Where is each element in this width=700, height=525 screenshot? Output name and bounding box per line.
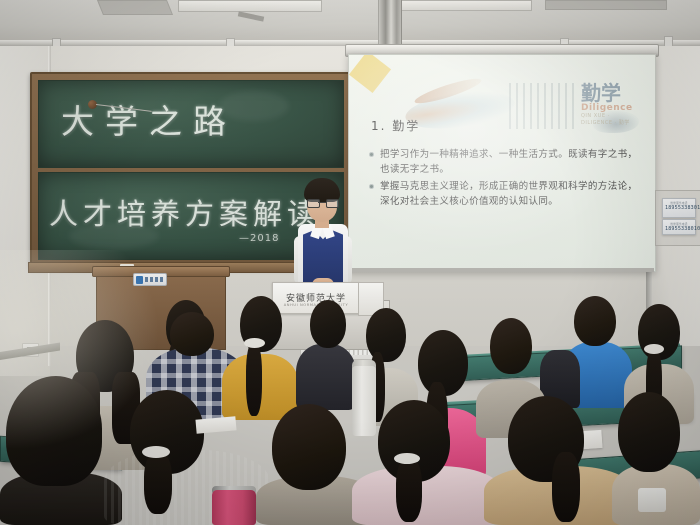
student-head [310,300,346,348]
student-head [6,376,102,486]
chalkboard-upper-panel: 大学之路 [38,80,344,168]
student-head [618,392,680,472]
projector-screen-mount [378,0,402,48]
wall-sign-number: 18955338010 [665,226,693,232]
pink-thermos-bottle[interactable] [212,490,256,525]
asset-tag-barcode [145,277,164,282]
student-ponytail [396,458,422,522]
student-foreground-rose-coat [352,400,502,525]
calligraphy-char: 勤学 [581,81,621,105]
student-head [574,296,616,346]
slide-bullet-2-line1: 掌握马克思主义理论，形成正确的世界观和科学的方法论， [380,181,637,192]
slide-heading: 1. 勤学 [371,117,420,134]
hair-tie [644,344,664,354]
hair-tie [244,338,265,348]
student-head [490,318,532,374]
slide-bullet-2: 掌握马克思主义理论，形成正确的世界观和科学的方法论， 深化对社会主义核心价值观的… [369,179,641,209]
equipment-asset-tag [133,273,167,286]
ceiling-light-fixture [390,0,532,11]
ceiling-light-fixture [178,0,322,12]
artwork-english-subtitle: QIN XUE · DILIGENCE · 勤学 [581,113,643,126]
student-head [272,404,346,490]
slide-bullet-1-line1: 把学习作为一种精神追求、一种生活方式。既读有字之书， [380,149,637,160]
glasses-bridge [318,202,326,203]
student-ponytail [144,452,172,514]
projection-screen: 勤学 Diligence QIN XUE · DILIGENCE · 勤学 1.… [348,54,656,272]
projector-screen-weight-bar [348,268,654,272]
classroom-photo: 大学之路 人才培养方案解读 —2018 勤学 Diligence QIN XUE… [0,0,700,525]
hair-tie [142,446,170,458]
slide-bullet-1: 把学习作为一种精神追求、一种生活方式。既读有字之书， 也读无字之书。 [369,147,641,177]
speaker-glasses-icon [307,199,337,206]
slide-bullet-2-line2: 深化对社会主义核心价值观的认知认同。 [369,194,641,209]
blackboard-subtitle-text: 人才培养方案解读 [49,191,321,233]
wall-sign-service-phone-2: 维修服务电话 18955338010 [662,219,696,235]
artwork-english-word: Diligence [581,103,633,113]
slide-bullet-1-line2: 也读无字之书。 [369,162,641,177]
ceiling-panel [545,0,667,10]
asset-tag-logo-icon [136,276,143,284]
slide-decor-diamond-icon [349,54,391,93]
wall-sign-service-phone-1: 维修服务电话 18955338301 [662,198,696,218]
slide-header-artwork: 勤学 Diligence QIN XUE · DILIGENCE · 勤学 [405,77,643,135]
ceiling-panel [97,0,173,15]
student-ponytail [552,452,580,522]
white-cup[interactable] [638,488,666,512]
glasses-lens-right [326,199,339,208]
student-body [296,344,356,410]
artwork-vertical-text-columns [509,83,579,129]
bullet-dot-icon [369,184,374,189]
student-row1-dark-jacket [296,300,356,410]
glasses-lens-left [307,199,320,208]
bullet-dot-icon [369,152,374,157]
blackboard-date-note: —2018 [239,233,279,244]
wall-sign-number: 18955338301 [665,205,693,211]
hair-tie [394,453,420,464]
student-head [170,312,214,356]
